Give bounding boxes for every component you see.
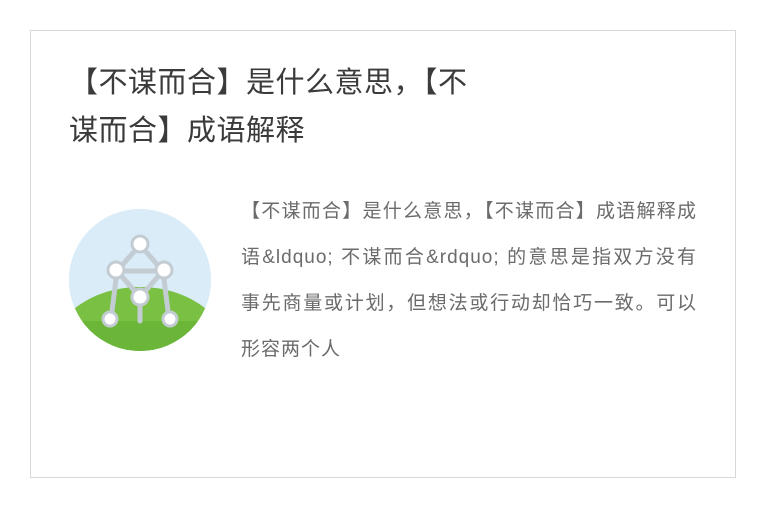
article-thumbnail xyxy=(69,209,211,351)
article-body: 【不谋而合】是什么意思，【不谋而合】成语解释成语&ldquo; 不谋而合&rdq… xyxy=(241,189,697,373)
page-title-line-1: 【不谋而合】是什么意思，【不 xyxy=(69,59,695,107)
document-frame: 【不谋而合】是什么意思，【不 谋而合】成语解释 xyxy=(30,30,736,478)
page-title-line-2: 谋而合】成语解释 xyxy=(69,107,695,155)
atomium-icon xyxy=(69,209,211,351)
page-title: 【不谋而合】是什么意思，【不 谋而合】成语解释 xyxy=(69,59,695,155)
